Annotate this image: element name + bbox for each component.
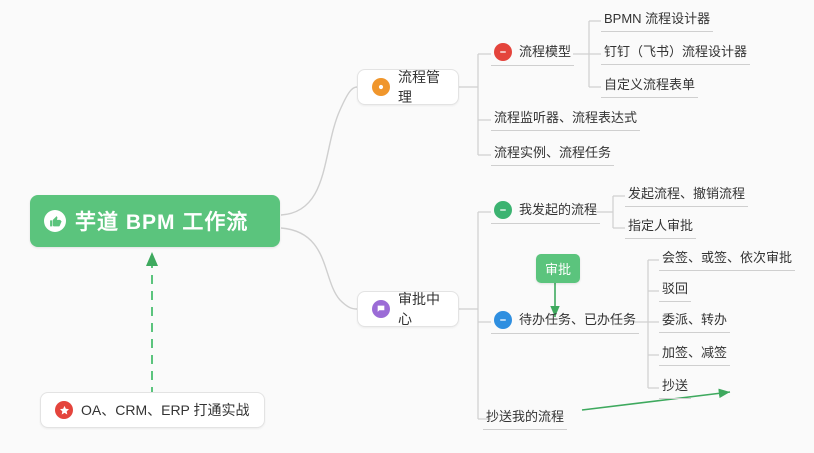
node-approval-pill[interactable]: 审批	[536, 254, 580, 283]
node-label: OA、CRM、ERP 打通实战	[81, 400, 250, 420]
node-cc-to-me[interactable]: 抄送我的流程	[483, 408, 567, 430]
node-label: 流程模型	[519, 44, 571, 60]
node-process-instance-task[interactable]: 流程实例、流程任务	[491, 144, 614, 166]
node-oa-crm-erp[interactable]: OA、CRM、ERP 打通实战	[40, 392, 265, 428]
node-cc[interactable]: 抄送	[659, 377, 691, 399]
node-label: 待办任务、已办任务	[519, 312, 636, 328]
node-approval-center[interactable]: 审批中心	[357, 291, 459, 327]
node-multi-approval[interactable]: 会签、或签、依次审批	[659, 249, 795, 271]
node-label: 审批中心	[398, 289, 444, 329]
node-process-management[interactable]: 流程管理	[357, 69, 459, 105]
node-reject[interactable]: 驳回	[659, 280, 691, 302]
node-assign-approver[interactable]: 指定人审批	[625, 217, 696, 239]
node-add-remove-sign[interactable]: 加签、减签	[659, 344, 730, 366]
node-bpmn-designer[interactable]: BPMN 流程设计器	[601, 10, 713, 32]
node-delegate-transfer[interactable]: 委派、转办	[659, 311, 730, 333]
node-start-cancel-process[interactable]: 发起流程、撤销流程	[625, 185, 748, 207]
node-custom-process-form[interactable]: 自定义流程表单	[601, 76, 698, 98]
thumbs-up-icon	[44, 210, 66, 232]
location-pin-icon	[372, 78, 390, 96]
node-label: 流程管理	[398, 67, 444, 107]
root-label: 芋道 BPM 工作流	[75, 206, 248, 236]
node-dingtalk-feishu-designer[interactable]: 钉钉（飞书）流程设计器	[601, 43, 750, 65]
chat-bubble-icon	[372, 300, 390, 318]
minus-circle-icon	[494, 43, 512, 61]
minus-circle-icon	[494, 201, 512, 219]
star-circle-icon	[55, 401, 73, 419]
minus-circle-icon	[494, 311, 512, 329]
root-node[interactable]: 芋道 BPM 工作流	[30, 195, 280, 247]
mindmap-canvas: 芋道 BPM 工作流 流程管理 流程模型 BPMN 流程设计器 钉钉（飞书）流程…	[0, 0, 814, 453]
node-label: 我发起的流程	[519, 202, 597, 218]
node-process-listener-expression[interactable]: 流程监听器、流程表达式	[491, 109, 640, 131]
node-todo-done-tasks[interactable]: 待办任务、已办任务	[491, 310, 639, 334]
node-my-initiated[interactable]: 我发起的流程	[491, 200, 600, 224]
node-process-model[interactable]: 流程模型	[491, 42, 574, 66]
